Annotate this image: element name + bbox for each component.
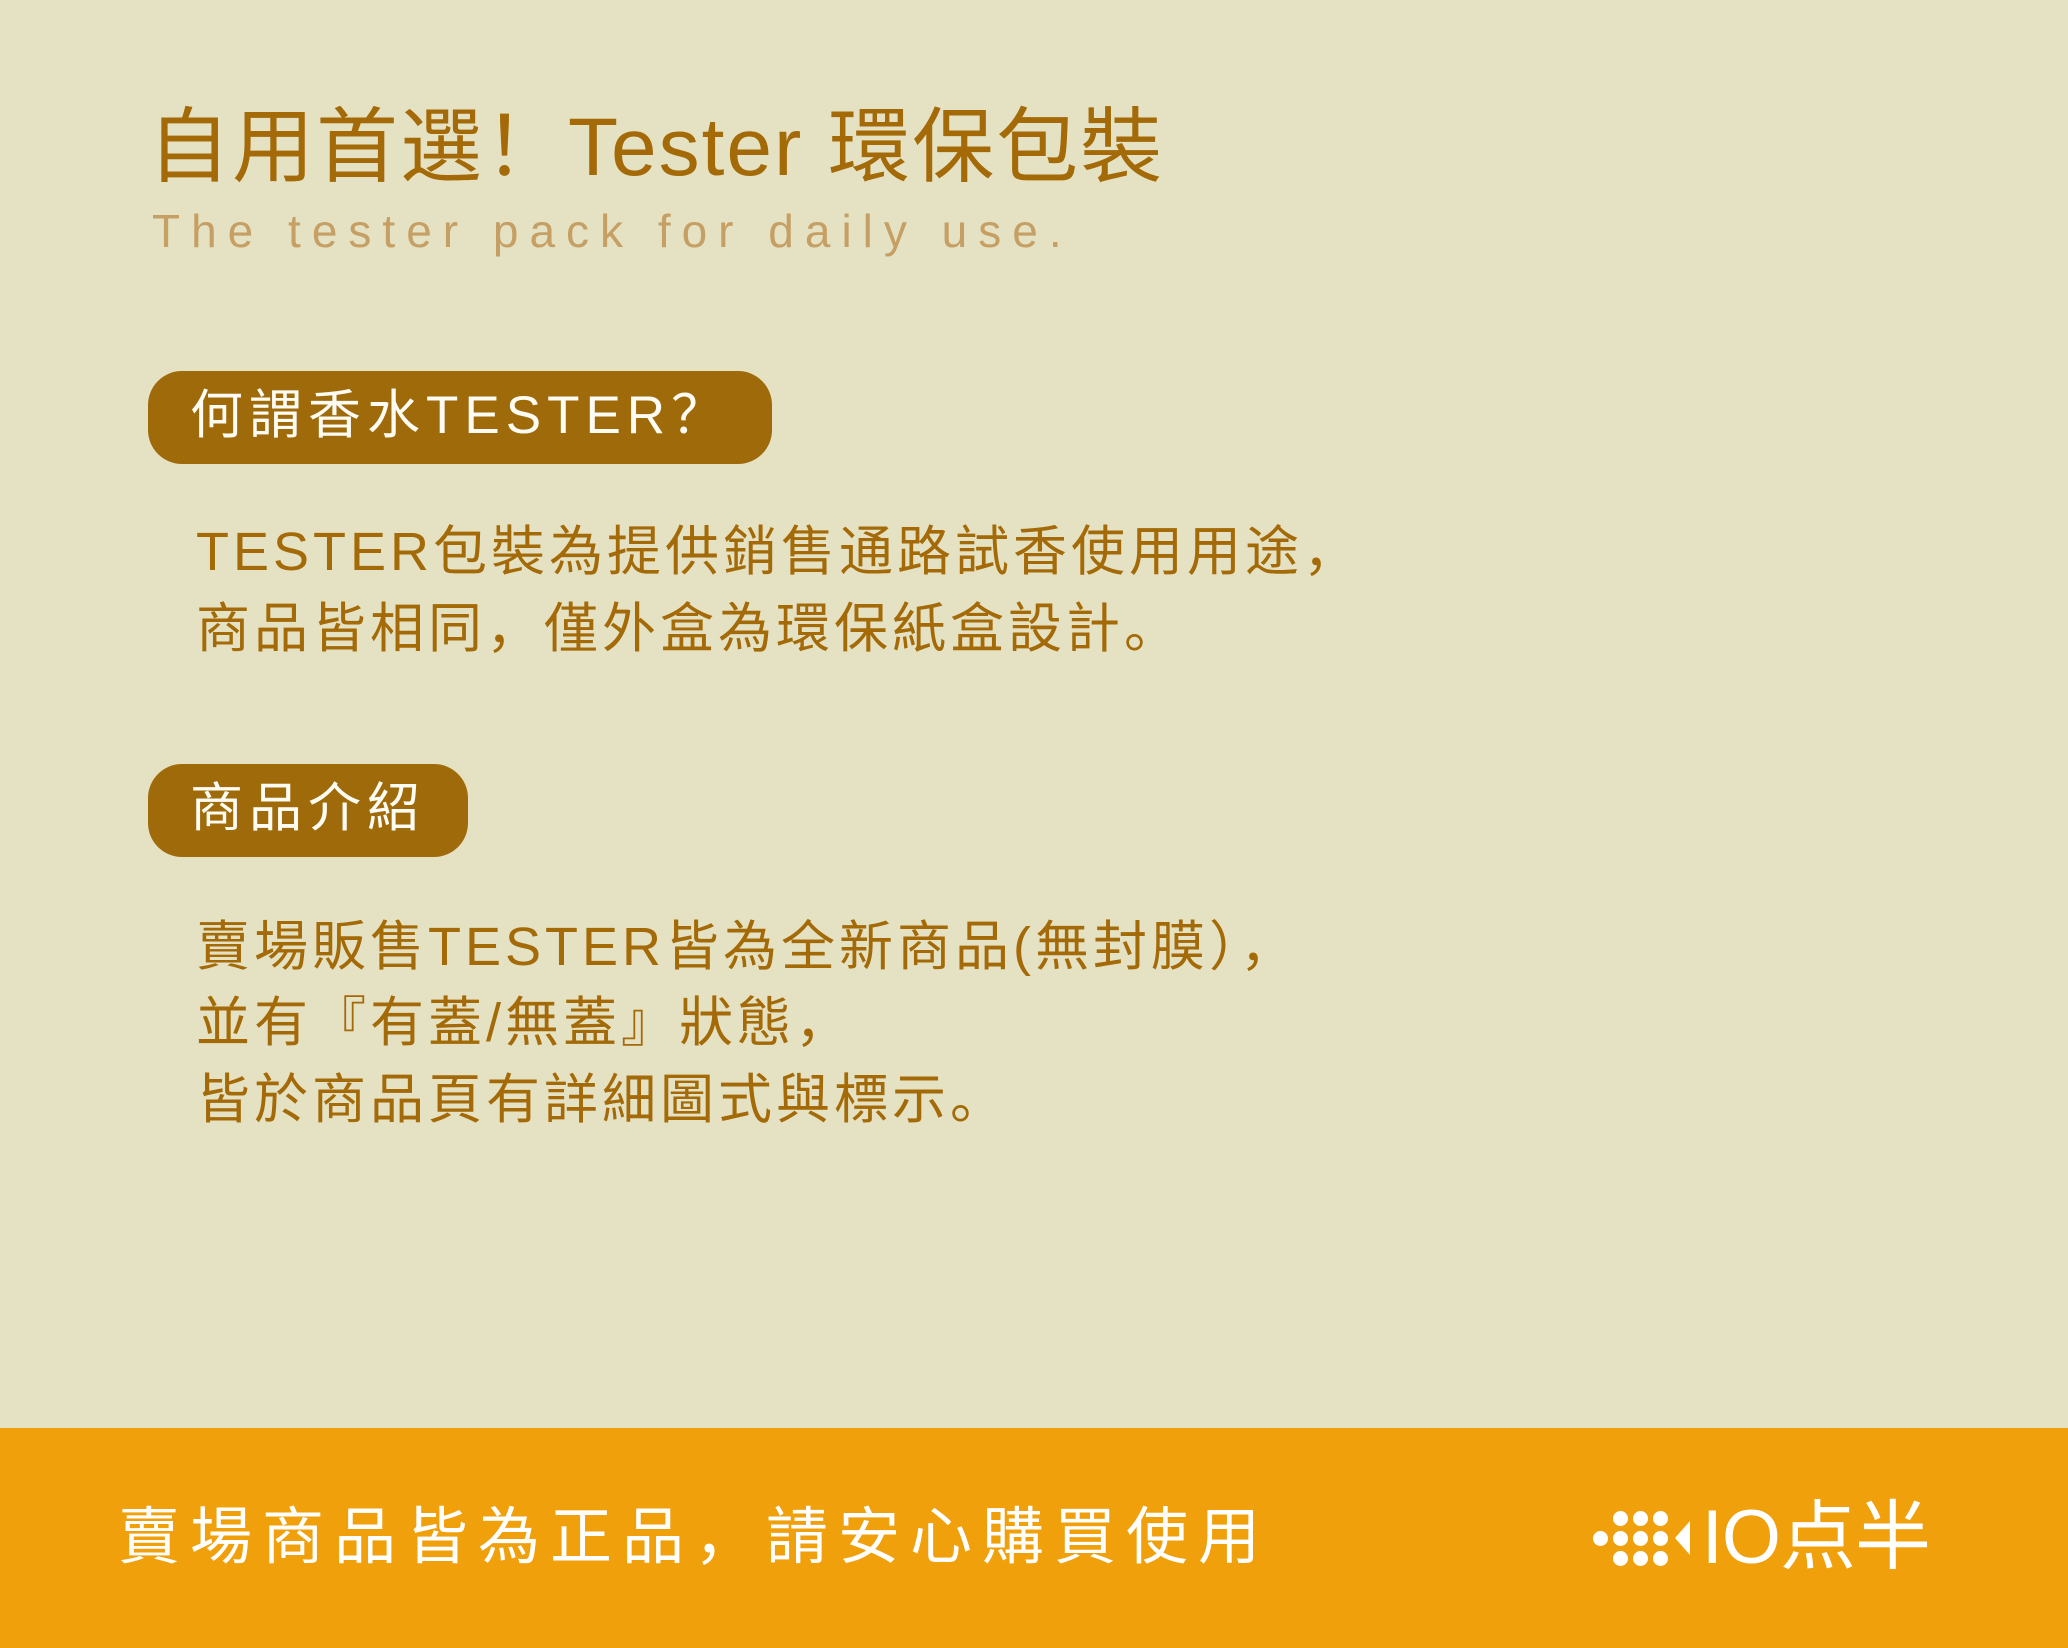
banner-content: 自用首選！Tester 環保包裝 The tester pack for dai… bbox=[0, 0, 2068, 1428]
page-subtitle: The tester pack for daily use. bbox=[152, 204, 2068, 259]
section-body-product-intro: 賣場販售TESTER皆為全新商品(無封膜）， 並有『有蓋/無蓋』狀態， 皆於商品… bbox=[196, 909, 2068, 1139]
body-line: 並有『有蓋/無蓋』狀態， bbox=[196, 985, 2068, 1062]
triangle-icon bbox=[1675, 1521, 1690, 1555]
brand-wordmark: IO点半 bbox=[1702, 1502, 1930, 1574]
section-body-what-is-tester: TESTER包裝為提供銷售通路試香使用用途， 商品皆相同，僅外盒為環保紙盒設計。 bbox=[196, 514, 2068, 667]
body-line: TESTER包裝為提供銷售通路試香使用用途， bbox=[196, 514, 2068, 591]
dot-matrix-icon bbox=[1593, 1511, 1668, 1566]
body-line: 皆於商品頁有詳細圖式與標示。 bbox=[196, 1062, 2068, 1139]
section-badge-what-is-tester: 何謂香水TESTER？ bbox=[148, 371, 772, 464]
footer-bar: 賣場商品皆為正品，請安心購買使用 IO点半 bbox=[0, 1428, 2068, 1648]
promo-banner: 自用首選！Tester 環保包裝 The tester pack for dai… bbox=[0, 0, 2068, 1648]
page-title: 自用首選！Tester 環保包裝 bbox=[148, 105, 2068, 190]
section-badge-product-intro: 商品介紹 bbox=[148, 764, 468, 857]
footer-message: 賣場商品皆為正品，請安心購買使用 bbox=[118, 1507, 1270, 1569]
brand-logo: IO点半 bbox=[1593, 1502, 1930, 1574]
body-line: 賣場販售TESTER皆為全新商品(無封膜）， bbox=[196, 909, 2068, 986]
body-line: 商品皆相同，僅外盒為環保紙盒設計。 bbox=[196, 591, 2068, 668]
